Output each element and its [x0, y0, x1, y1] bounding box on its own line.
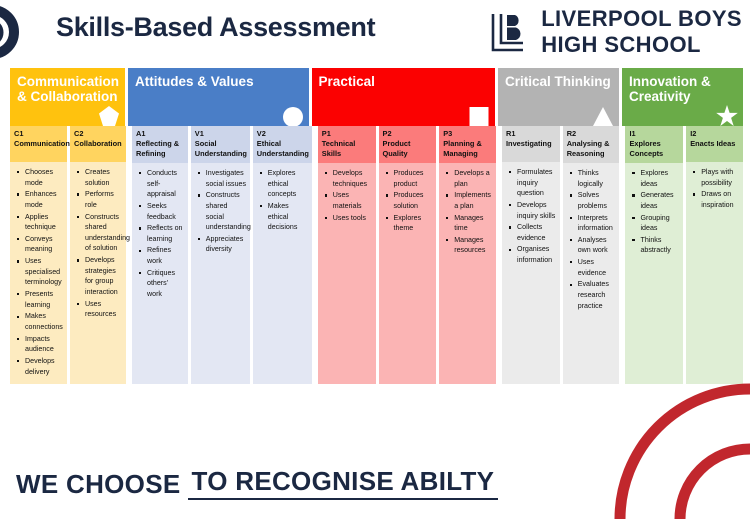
matrix-skill-item: Makes ethical decisions	[268, 201, 309, 233]
matrix-skill-item: Presents learning	[25, 289, 64, 310]
matrix-column: V2Ethical UnderstandingExplores ethical …	[253, 126, 312, 384]
matrix-skill-list: Thinks logicallySolves problemsInterpret…	[565, 168, 617, 311]
matrix-column: R2Analysing & ReasoningThinks logicallyS…	[563, 126, 620, 384]
matrix-column: P2Product QualityProduces productProduce…	[379, 126, 437, 384]
matrix-column-code: V2	[257, 129, 308, 139]
matrix-column-code: C1	[14, 129, 63, 139]
school-logo: LIVERPOOL BOYS HIGH SCHOOL	[490, 6, 742, 58]
matrix-column-header: R2Analysing & Reasoning	[563, 126, 620, 163]
matrix-column-header: C1Communication	[10, 126, 67, 162]
matrix-skill-item: Explores ideas	[640, 168, 680, 189]
matrix-column-body: Formulates inquiry questionDevelops inqu…	[502, 162, 560, 384]
matrix-column-body: Explores ideasGenerates ideasGrouping id…	[625, 163, 683, 384]
matrix-column-name: Ethical Understanding	[257, 139, 308, 159]
matrix-column-header: P2Product Quality	[379, 126, 437, 163]
matrix-column-header: R1Investigating	[502, 126, 560, 162]
matrix-skill-item: Seeks feedback	[147, 201, 185, 222]
matrix-column-body: Explores ethical conceptsMakes ethical d…	[253, 163, 312, 384]
matrix-column: I2Enacts IdeasPlays with possibilityDraw…	[686, 126, 743, 384]
matrix-skill-item: Conveys meaning	[25, 234, 64, 255]
matrix-column-body: Investigates social issuesConstructs sha…	[191, 163, 250, 384]
matrix-skill-item: Uses specialised terminology	[25, 256, 64, 288]
matrix-column: A1Reflecting & RefiningConducts self-app…	[132, 126, 188, 384]
matrix-column-code: R1	[506, 129, 556, 139]
matrix-column: P1Technical SkillsDevelops techniquesUse…	[318, 126, 376, 384]
matrix-group-header-row: Communication & CollaborationAttitudes &…	[10, 68, 743, 126]
matrix-column: C1CommunicationChooses modeEnhances mode…	[10, 126, 67, 384]
matrix-column-body: Creates solutionPerforms roleConstructs …	[70, 162, 126, 384]
matrix-skill-item: Investigates social issues	[206, 168, 247, 189]
matrix-column-code: I1	[629, 129, 679, 139]
matrix-column: V1Social UnderstandingInvestigates socia…	[191, 126, 250, 384]
matrix-column-header: C2Collaboration	[70, 126, 126, 162]
matrix-skill-item: Formulates inquiry question	[517, 167, 557, 199]
page-header: Skills-Based Assessment LIVERPOOL BOYS H…	[0, 0, 750, 66]
matrix-column: P3Planning & ManagingDevelops a planImpl…	[439, 126, 496, 384]
liverpool-boys-monogram-icon	[490, 11, 532, 53]
matrix-skill-item: Develops strategies for group interactio…	[85, 255, 123, 298]
matrix-column-name: Planning & Managing	[443, 139, 492, 159]
matrix-skill-item: Refines work	[147, 245, 185, 266]
matrix-skill-list: Produces productProduces solutionExplore…	[381, 168, 434, 234]
matrix-skill-item: Organises information	[517, 244, 557, 265]
matrix-skill-item: Applies technique	[25, 212, 64, 233]
matrix-column-name: Communication	[14, 139, 63, 149]
circle-icon	[282, 105, 304, 126]
matrix-column-body: Develops a planImplements a planManages …	[439, 163, 496, 384]
matrix-skill-item: Explores theme	[394, 213, 434, 234]
pentagon-icon	[98, 105, 120, 126]
matrix-column-body: Conducts self-appraisalSeeks feedbackRef…	[132, 163, 188, 384]
matrix-column-name: Product Quality	[383, 139, 433, 159]
matrix-group-header: Attitudes & Values	[128, 68, 309, 126]
matrix-group-header: Innovation & Creativity	[622, 68, 743, 126]
matrix-group-label: Attitudes & Values	[128, 68, 261, 89]
matrix-column-code: V1	[195, 129, 246, 139]
matrix-column-name: Technical Skills	[322, 139, 372, 159]
matrix-skill-item: Develops delivery	[25, 356, 64, 377]
matrix-skill-item: Solves problems	[578, 190, 617, 211]
matrix-column-name: Collaboration	[74, 139, 122, 149]
matrix-column-name: Investigating	[506, 139, 556, 149]
matrix-skill-item: Uses evidence	[578, 257, 617, 278]
matrix-skill-item: Constructs shared understanding of solut…	[85, 212, 123, 255]
matrix-skill-item: Manages time	[454, 213, 493, 234]
matrix-group-header: Critical Thinking	[498, 68, 619, 126]
matrix-skill-item: Produces solution	[394, 190, 434, 211]
matrix-group-label: Practical	[312, 68, 382, 89]
matrix-skill-list: Explores ethical conceptsMakes ethical d…	[255, 168, 309, 233]
matrix-skill-item: Uses resources	[85, 299, 123, 320]
matrix-skill-item: Impacts audience	[25, 334, 64, 355]
matrix-skill-item: Interprets information	[578, 213, 617, 234]
square-icon	[468, 105, 490, 126]
matrix-skill-list: Conducts self-appraisalSeeks feedbackRef…	[134, 168, 185, 300]
matrix-skill-item: Makes connections	[25, 311, 64, 332]
matrix-skill-item: Performs role	[85, 189, 123, 210]
matrix-column-code: P2	[383, 129, 433, 139]
matrix-skill-list: Creates solutionPerforms roleConstructs …	[72, 167, 123, 320]
matrix-skill-item: Analyses own work	[578, 235, 617, 256]
matrix-column: C2CollaborationCreates solutionPerforms …	[70, 126, 126, 384]
matrix-column-code: C2	[74, 129, 122, 139]
matrix-skill-list: Plays with possibilityDraws on inspirati…	[688, 167, 740, 211]
matrix-skill-item: Manages resources	[454, 235, 493, 256]
matrix-skill-item: Explores ethical concepts	[268, 168, 309, 200]
matrix-column-body: Chooses modeEnhances modeApplies techniq…	[10, 162, 67, 384]
matrix-skill-item: Conducts self-appraisal	[147, 168, 185, 200]
matrix-skill-item: Generates ideas	[640, 190, 680, 211]
matrix-column-code: P3	[443, 129, 492, 139]
matrix-column-name: Explores Concepts	[629, 139, 679, 159]
matrix-skill-item: Develops techniques	[333, 168, 373, 189]
matrix-column-body: Thinks logicallySolves problemsInterpret…	[563, 163, 620, 384]
matrix-skill-item: Implements a plan	[454, 190, 493, 211]
matrix-column-name: Analysing & Reasoning	[567, 139, 616, 159]
matrix-skill-item: Reflects on learning	[147, 223, 185, 244]
matrix-skill-item: Chooses mode	[25, 167, 64, 188]
matrix-skill-list: Develops a planImplements a planManages …	[441, 168, 493, 256]
matrix-skill-item: Produces product	[394, 168, 434, 189]
matrix-skill-item: Uses materials	[333, 190, 373, 211]
matrix-skill-item: Critiques others' work	[147, 268, 185, 300]
matrix-column-code: I2	[690, 129, 739, 139]
matrix-skill-item: Develops inquiry skills	[517, 200, 557, 221]
matrix-skill-item: Constructs shared social understanding	[206, 190, 247, 233]
matrix-column-body: Produces productProduces solutionExplore…	[379, 163, 437, 384]
matrix-skill-item: Grouping ideas	[640, 213, 680, 234]
matrix-column-name: Reflecting & Refining	[136, 139, 184, 159]
matrix-column-name: Enacts Ideas	[690, 139, 739, 149]
matrix-skill-item: Collects evidence	[517, 222, 557, 243]
matrix-skill-list: Formulates inquiry questionDevelops inqu…	[504, 167, 557, 266]
matrix-skill-list: Develops techniquesUses materialsUses to…	[320, 168, 373, 223]
matrix-skill-item: Creates solution	[85, 167, 123, 188]
matrix-column-body: Develops techniquesUses materialsUses to…	[318, 163, 376, 384]
matrix-skill-list: Investigates social issuesConstructs sha…	[193, 168, 247, 255]
matrix-group-label: Critical Thinking	[498, 68, 618, 89]
matrix-column-header: I2Enacts Ideas	[686, 126, 743, 162]
matrix-column-name: Social Understanding	[195, 139, 246, 159]
matrix-column-code: R2	[567, 129, 616, 139]
matrix-skill-list: Explores ideasGenerates ideasGrouping id…	[627, 168, 680, 256]
matrix-column-header: V2Ethical Understanding	[253, 126, 312, 163]
matrix-group-header: Practical	[312, 68, 495, 126]
matrix-column-header: V1Social Understanding	[191, 126, 250, 163]
triangle-icon	[592, 105, 614, 126]
matrix-column-code: A1	[136, 129, 184, 139]
matrix-skill-item: Enhances mode	[25, 189, 64, 210]
school-name-line-1: LIVERPOOL BOYS	[541, 8, 742, 30]
matrix-column-header: A1Reflecting & Refining	[132, 126, 188, 163]
matrix-group-label: Innovation & Creativity	[622, 68, 743, 104]
matrix-skill-item: Plays with possibility	[701, 167, 740, 188]
matrix-column-header: P1Technical Skills	[318, 126, 376, 163]
matrix-skill-list: Chooses modeEnhances modeApplies techniq…	[12, 167, 64, 377]
matrix-column: I1Explores ConceptsExplores ideasGenerat…	[625, 126, 683, 384]
concentric-arcs-decoration-icon	[598, 367, 750, 519]
matrix-group-header: Communication & Collaboration	[10, 68, 125, 126]
matrix-skill-item: Uses tools	[333, 213, 373, 224]
matrix-column-code: P1	[322, 129, 372, 139]
concentric-arcs-logo-icon	[0, 3, 42, 61]
skills-matrix: Communication & CollaborationAttitudes &…	[10, 68, 743, 384]
matrix-column-header: P3Planning & Managing	[439, 126, 496, 163]
school-name-line-2: HIGH SCHOOL	[541, 34, 742, 56]
tagline-emphasis: TO RECOGNISE ABILTY	[188, 466, 499, 500]
matrix-column-body: Plays with possibilityDraws on inspirati…	[686, 162, 743, 384]
matrix-column-header: I1Explores Concepts	[625, 126, 683, 163]
matrix-skill-item: Draws on inspiration	[701, 189, 740, 210]
matrix-skill-item: Thinks logically	[578, 168, 617, 189]
matrix-column: R1InvestigatingFormulates inquiry questi…	[502, 126, 560, 384]
page-title: Skills-Based Assessment	[56, 12, 375, 43]
matrix-skill-item: Thinks abstractly	[640, 235, 680, 256]
matrix-skill-item: Evaluates research practice	[578, 279, 617, 311]
footer-tagline: WE CHOOSE TO RECOGNISE ABILTY	[16, 466, 498, 500]
matrix-skill-item: Appreciates diversity	[206, 234, 247, 255]
tagline-lead: WE CHOOSE	[16, 469, 181, 500]
star-icon	[716, 105, 738, 126]
matrix-skill-item: Develops a plan	[454, 168, 493, 189]
matrix-column-row: C1CommunicationChooses modeEnhances mode…	[10, 126, 743, 384]
matrix-group-label: Communication & Collaboration	[10, 68, 125, 104]
